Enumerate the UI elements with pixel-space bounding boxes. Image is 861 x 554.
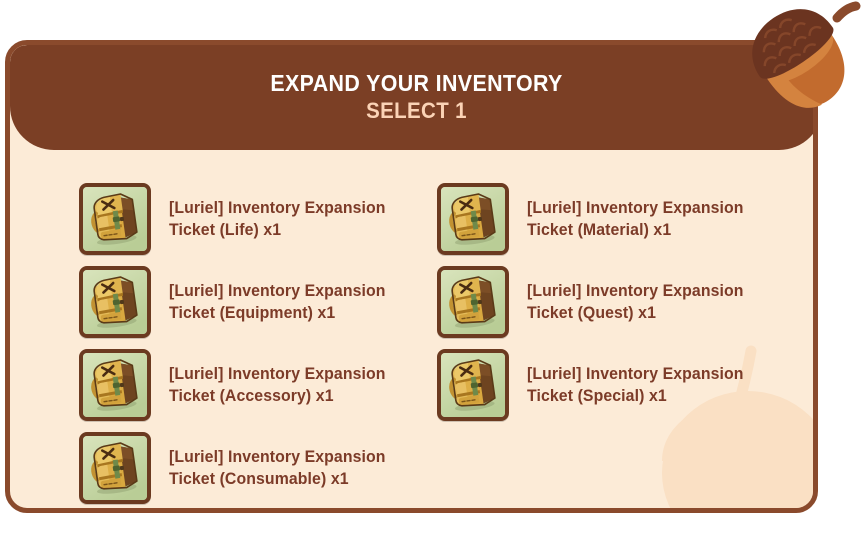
reward-item-label: [Luriel] Inventory Expansion Ticket (Mat…: [527, 197, 744, 241]
page-title: EXPAND YOUR INVENTORY: [38, 70, 794, 97]
backpack-icon-frame[interactable]: [79, 349, 151, 421]
reward-item-material[interactable]: [Luriel] Inventory Expansion Ticket (Mat…: [437, 183, 797, 255]
backpack-icon-frame[interactable]: [79, 432, 151, 504]
reward-item-special[interactable]: [Luriel] Inventory Expansion Ticket (Spe…: [437, 349, 797, 421]
backpack-icon-frame[interactable]: [437, 183, 509, 255]
card-header: EXPAND YOUR INVENTORY SELECT 1: [10, 45, 818, 150]
backpack-icon-frame[interactable]: [437, 349, 509, 421]
backpack-icon: [83, 187, 147, 251]
reward-item-consumable[interactable]: [Luriel] Inventory Expansion Ticket (Con…: [79, 432, 439, 504]
reward-selection-card: EXPAND YOUR INVENTORY SELECT 1: [5, 40, 818, 513]
backpack-icon: [441, 187, 505, 251]
backpack-icon: [83, 353, 147, 417]
reward-item-label: [Luriel] Inventory Expansion Ticket (Acc…: [169, 363, 386, 407]
backpack-icon-frame[interactable]: [79, 183, 151, 255]
reward-items-grid: [Luriel] Inventory Expansion Ticket (Lif…: [10, 150, 818, 513]
reward-item-label: [Luriel] Inventory Expansion Ticket (Lif…: [169, 197, 386, 241]
reward-item-label: [Luriel] Inventory Expansion Ticket (Spe…: [527, 363, 744, 407]
reward-item-quest[interactable]: [Luriel] Inventory Expansion Ticket (Que…: [437, 266, 797, 338]
reward-item-label: [Luriel] Inventory Expansion Ticket (Equ…: [169, 280, 386, 324]
backpack-icon: [83, 436, 147, 500]
reward-item-label: [Luriel] Inventory Expansion Ticket (Con…: [169, 446, 386, 490]
reward-item-life[interactable]: [Luriel] Inventory Expansion Ticket (Lif…: [79, 183, 439, 255]
backpack-icon: [441, 270, 505, 334]
reward-item-accessory[interactable]: [Luriel] Inventory Expansion Ticket (Acc…: [79, 349, 439, 421]
reward-item-equipment[interactable]: [Luriel] Inventory Expansion Ticket (Equ…: [79, 266, 439, 338]
backpack-icon-frame[interactable]: [437, 266, 509, 338]
backpack-icon: [441, 353, 505, 417]
backpack-icon-frame[interactable]: [79, 266, 151, 338]
reward-item-label: [Luriel] Inventory Expansion Ticket (Que…: [527, 280, 744, 324]
header-subtitle: SELECT 1: [38, 98, 794, 124]
backpack-icon: [83, 270, 147, 334]
